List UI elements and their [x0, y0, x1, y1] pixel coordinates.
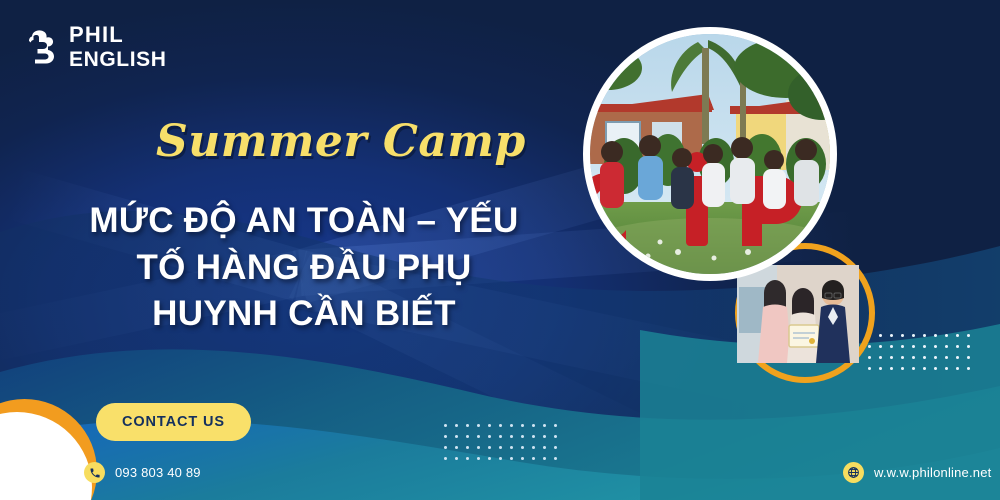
- headline-line-1: MỨC ĐỘ AN TOÀN – YẾU: [44, 198, 564, 245]
- brand-name-line1: PHIL: [69, 24, 167, 46]
- dot: [901, 356, 904, 359]
- dot: [521, 424, 524, 427]
- main-photo: [583, 27, 837, 281]
- globe-icon: [843, 462, 864, 483]
- dot: [923, 345, 926, 348]
- phone-icon: [84, 462, 105, 483]
- dot: [510, 446, 513, 449]
- dot: [554, 446, 557, 449]
- dot: [466, 435, 469, 438]
- dot: [532, 457, 535, 460]
- secondary-photo: [737, 265, 859, 363]
- dot: [466, 424, 469, 427]
- dot: [510, 457, 513, 460]
- dot: [477, 424, 480, 427]
- dot: [890, 345, 893, 348]
- dot: [477, 435, 480, 438]
- dot: [967, 367, 970, 370]
- dot: [543, 424, 546, 427]
- dot: [455, 457, 458, 460]
- dot: [488, 457, 491, 460]
- dot: [868, 345, 871, 348]
- headline-line-3: HUYNH CẦN BIẾT: [44, 291, 564, 338]
- dot: [510, 435, 513, 438]
- website-url: w.w.w.philonline.net: [874, 465, 991, 480]
- page-title: MỨC ĐỘ AN TOÀN – YẾU TỐ HÀNG ĐẦU PHỤ HUY…: [44, 198, 564, 338]
- dot: [956, 345, 959, 348]
- brand-wordmark: PHIL ENGLISH: [69, 24, 167, 70]
- dot: [967, 356, 970, 359]
- promo-banner: PHIL ENGLISH Summer Camp MỨC ĐỘ AN TOÀN …: [0, 0, 1000, 500]
- dot: [499, 424, 502, 427]
- dot: [488, 424, 491, 427]
- dot: [912, 367, 915, 370]
- dot: [499, 446, 502, 449]
- dot: [444, 446, 447, 449]
- dot: [499, 457, 502, 460]
- dot: [554, 424, 557, 427]
- dot: [923, 356, 926, 359]
- dot: [554, 457, 557, 460]
- brand-name-line2: ENGLISH: [69, 49, 167, 70]
- dot: [879, 334, 882, 337]
- dot: [543, 457, 546, 460]
- dot: [554, 435, 557, 438]
- dot: [934, 367, 937, 370]
- dot: [912, 356, 915, 359]
- dot-grid-right: [868, 334, 978, 378]
- dot: [532, 446, 535, 449]
- dot: [499, 435, 502, 438]
- lion-crest-icon: [26, 28, 60, 66]
- dot: [868, 367, 871, 370]
- dot: [967, 334, 970, 337]
- dot: [532, 435, 535, 438]
- dot: [956, 334, 959, 337]
- contact-us-button[interactable]: CONTACT US: [96, 403, 251, 441]
- dot: [444, 424, 447, 427]
- dot: [466, 446, 469, 449]
- dot: [934, 356, 937, 359]
- dot: [521, 435, 524, 438]
- dot: [488, 446, 491, 449]
- dot: [879, 356, 882, 359]
- dot: [477, 446, 480, 449]
- dot: [956, 367, 959, 370]
- dot: [901, 367, 904, 370]
- dot: [868, 356, 871, 359]
- brand-logo[interactable]: PHIL ENGLISH: [26, 24, 167, 70]
- dot: [890, 367, 893, 370]
- dot: [879, 345, 882, 348]
- dot: [912, 345, 915, 348]
- dot: [510, 424, 513, 427]
- dot: [945, 367, 948, 370]
- dot: [912, 334, 915, 337]
- dot: [890, 356, 893, 359]
- dot: [532, 424, 535, 427]
- dot: [901, 345, 904, 348]
- headline-line-2: TỐ HÀNG ĐẦU PHỤ: [44, 245, 564, 292]
- dot: [967, 345, 970, 348]
- dot: [934, 345, 937, 348]
- dot: [477, 457, 480, 460]
- dot: [934, 334, 937, 337]
- dot: [543, 435, 546, 438]
- script-title: Summer Camp: [156, 116, 526, 167]
- dot: [923, 367, 926, 370]
- dot: [455, 446, 458, 449]
- dot: [521, 446, 524, 449]
- dot-grid-center: [444, 424, 565, 468]
- dot: [890, 334, 893, 337]
- dot: [945, 356, 948, 359]
- dot: [543, 446, 546, 449]
- contact-phone[interactable]: 093 803 40 89: [84, 462, 201, 483]
- dot: [521, 457, 524, 460]
- dot: [879, 367, 882, 370]
- contact-website[interactable]: w.w.w.philonline.net: [843, 462, 991, 483]
- dot: [945, 334, 948, 337]
- dot: [444, 457, 447, 460]
- dot: [923, 334, 926, 337]
- phone-number: 093 803 40 89: [115, 465, 201, 480]
- dot: [444, 435, 447, 438]
- dot: [488, 435, 491, 438]
- dot: [455, 424, 458, 427]
- dot: [466, 457, 469, 460]
- dot: [901, 334, 904, 337]
- dot: [455, 435, 458, 438]
- dot: [945, 345, 948, 348]
- dot: [956, 356, 959, 359]
